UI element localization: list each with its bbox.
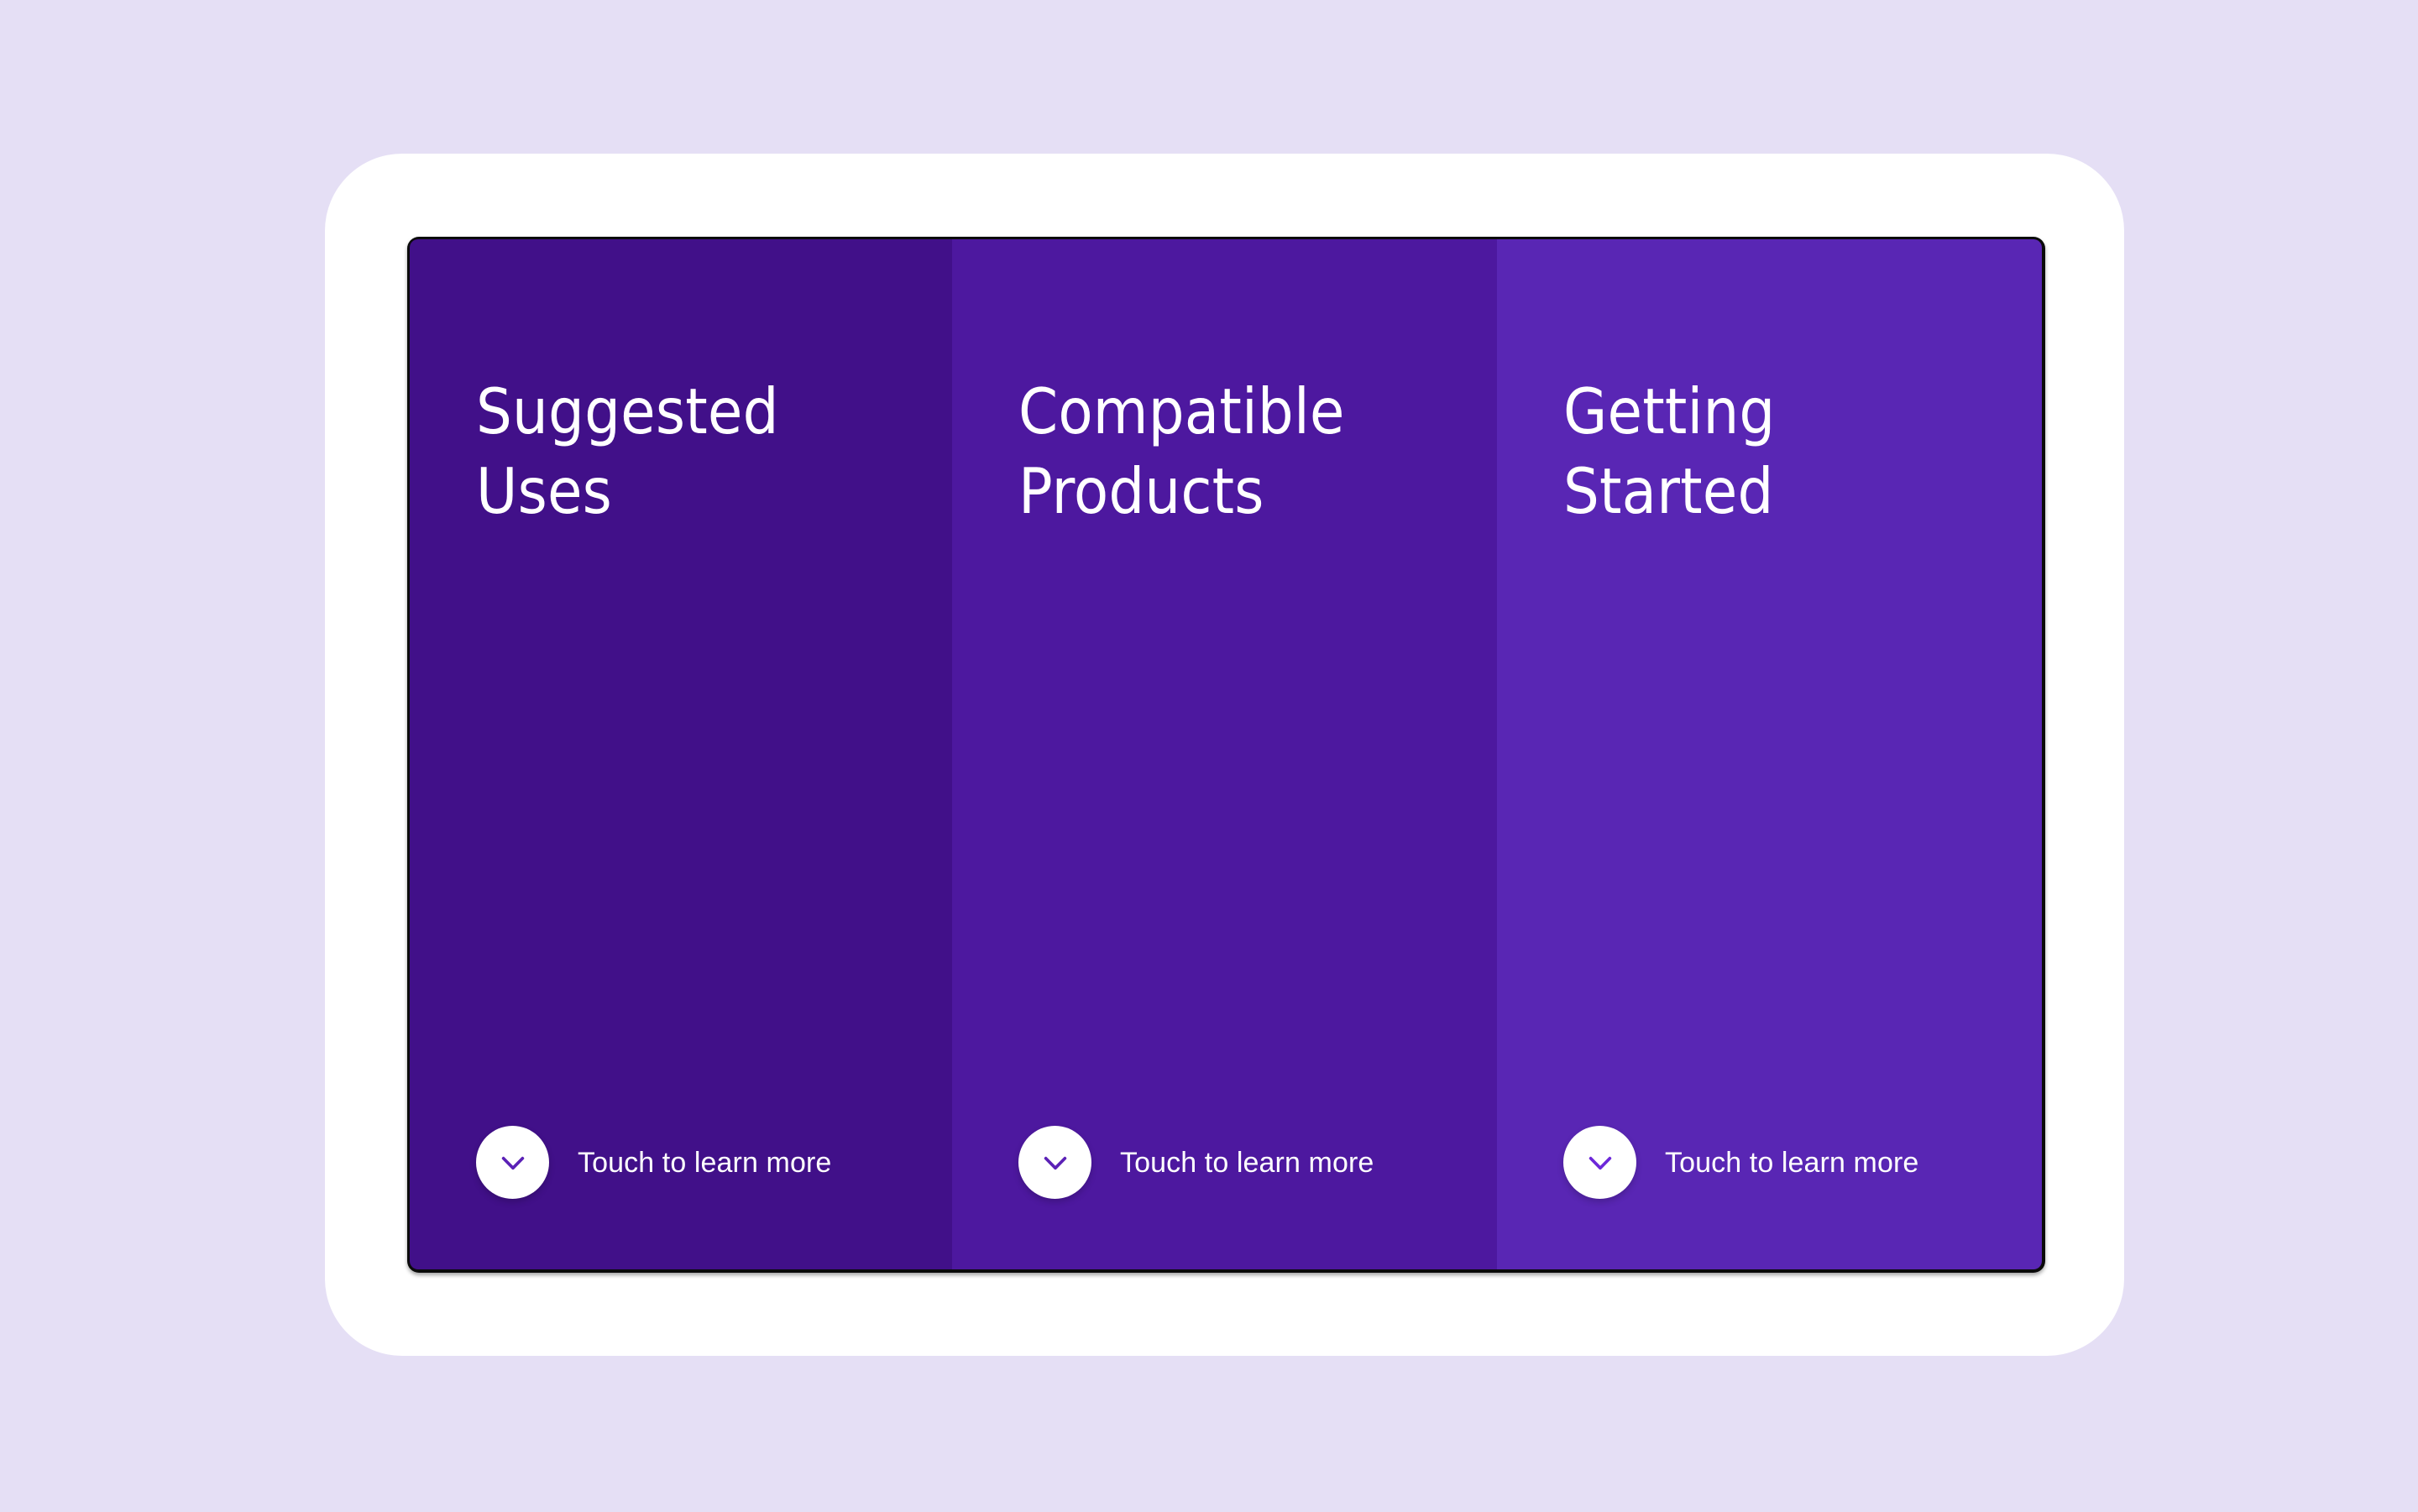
panel-title-compatible-products: Compatible Products: [952, 239, 1497, 531]
chevron-down-button-compatible-products[interactable]: [1018, 1126, 1091, 1199]
chevron-down-button-suggested-uses[interactable]: [476, 1126, 549, 1199]
panel-getting-started[interactable]: Getting Started Touch to learn more: [1497, 239, 2042, 1269]
kiosk-screen: Suggested Uses Touch to learn more Compa…: [410, 239, 2042, 1269]
panel-title-getting-started: Getting Started: [1497, 239, 2042, 531]
panel-suggested-uses[interactable]: Suggested Uses Touch to learn more: [410, 239, 952, 1269]
page-root: Suggested Uses Touch to learn more Compa…: [0, 0, 2418, 1512]
chevron-down-icon: [1583, 1145, 1618, 1180]
panel-title-suggested-uses: Suggested Uses: [410, 239, 952, 531]
cta-getting-started[interactable]: Touch to learn more: [1497, 1126, 2042, 1269]
cta-compatible-products[interactable]: Touch to learn more: [952, 1126, 1497, 1269]
chevron-down-icon: [495, 1145, 531, 1180]
cta-label-suggested-uses: Touch to learn more: [578, 1148, 831, 1177]
panel-compatible-products[interactable]: Compatible Products Touch to learn more: [952, 239, 1497, 1269]
cta-label-compatible-products: Touch to learn more: [1120, 1148, 1374, 1177]
cta-suggested-uses[interactable]: Touch to learn more: [410, 1126, 952, 1269]
chevron-down-button-getting-started[interactable]: [1563, 1126, 1636, 1199]
chevron-down-icon: [1038, 1145, 1073, 1180]
cta-label-getting-started: Touch to learn more: [1665, 1148, 1918, 1177]
